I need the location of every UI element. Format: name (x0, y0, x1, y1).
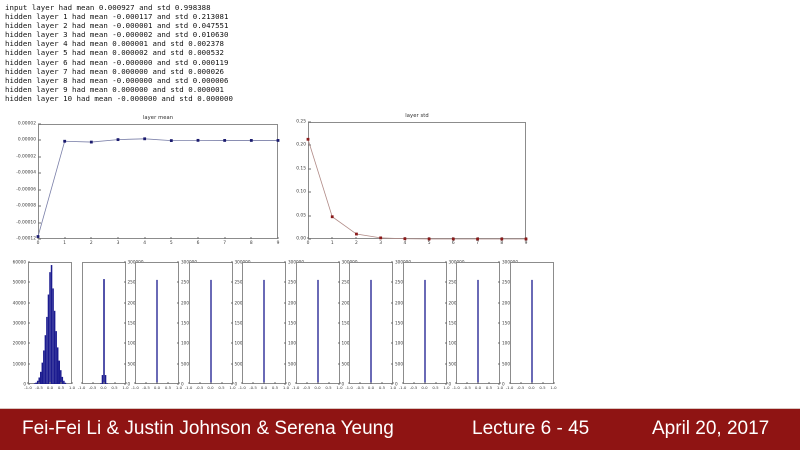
histogram-x-tick-label: -1.0 (131, 385, 139, 390)
console-output-block: input layer had mean 0.000927 and std 0.… (5, 3, 305, 103)
histogram-y-tick-mark (177, 363, 179, 364)
histogram-y-tick-label: 50000 (13, 280, 26, 285)
histogram-x-tick-mark (125, 382, 126, 384)
histogram-x-tick-label: 0.5 (432, 385, 438, 390)
histogram-x-tick-label: -0.5 (517, 385, 525, 390)
histogram-x-tick-label: -1.0 (24, 385, 32, 390)
histogram-x-tick-label: -0.5 (356, 385, 364, 390)
histogram-bar (58, 361, 60, 384)
histogram-strip: 0100002000030000400005000060000-1.0-0.50… (0, 262, 540, 397)
histogram-y-tick-mark (284, 262, 286, 263)
histogram-plot (189, 262, 233, 384)
histogram-x-tick-mark (242, 382, 243, 384)
histogram-x-tick-mark (456, 382, 457, 384)
histogram-x-tick-label: 0.0 (368, 385, 374, 390)
histogram-x-tick-mark (402, 382, 403, 384)
histogram-y-tick-mark (391, 262, 393, 263)
histogram-y-tick-mark (231, 323, 233, 324)
x-tick-label: 8 (500, 241, 503, 246)
y-tick-label: 0.05 (296, 213, 306, 218)
histogram-y-tick-mark (445, 282, 447, 283)
y-tick-label: 0.00 (296, 237, 306, 242)
histogram-y-tick-mark (231, 282, 233, 283)
x-tick-label: 6 (197, 241, 200, 246)
histogram-bar (65, 383, 67, 384)
histogram-x-tick-label: -1.0 (452, 385, 460, 390)
series-marker (37, 235, 40, 238)
chart-layer-mean: layer mean 0.000020.00000-0.00002-0.0000… (38, 124, 278, 239)
histogram-y-tick-mark (231, 343, 233, 344)
histogram-x-tick-label: 0.5 (111, 385, 117, 390)
histogram-x-tick-label: 0.5 (325, 385, 331, 390)
series-line (38, 139, 278, 237)
footer-lecture-number: Lecture 6 - 45 (472, 418, 589, 440)
console-line: hidden layer 8 had mean -0.000000 and st… (5, 76, 305, 85)
series-marker (331, 215, 334, 218)
series-marker (277, 139, 280, 142)
histogram-x-tick-mark (210, 382, 211, 384)
histogram-y-tick-mark (124, 282, 126, 283)
histogram-y-tick-label: 10000 (13, 361, 26, 366)
histogram-x-tick-label: 1.0 (497, 385, 503, 390)
chart-layer-std-plot (308, 122, 526, 239)
histogram-x-tick-mark (232, 382, 233, 384)
histogram-subplot: 050000100000150000200000250000300000-1.0… (456, 262, 500, 384)
histogram-x-tick-mark (382, 382, 383, 384)
histogram-x-tick-label: 0.0 (100, 385, 106, 390)
histogram-plot (82, 262, 126, 384)
histogram-x-tick-mark (478, 382, 479, 384)
histogram-x-tick-label: 0.5 (486, 385, 492, 390)
series-marker (223, 139, 226, 142)
y-tick-label: 0.00000 (18, 138, 36, 143)
histogram-y-tick-mark (177, 343, 179, 344)
console-line: hidden layer 3 had mean -0.000002 and st… (5, 30, 305, 39)
histogram-x-tick-mark (509, 382, 510, 384)
histogram-x-tick-mark (264, 382, 265, 384)
series-marker (63, 140, 66, 143)
console-line: hidden layer 7 had mean 0.000000 and std… (5, 67, 305, 76)
histogram-x-tick-mark (349, 382, 350, 384)
histogram-y-tick-mark (28, 343, 30, 344)
footer-date: April 20, 2017 (652, 418, 769, 440)
histogram-x-tick-label: 0.0 (47, 385, 53, 390)
histogram-y-tick-mark (124, 343, 126, 344)
histogram-x-tick-label: -1.0 (292, 385, 300, 390)
histogram-x-tick-label: -1.0 (506, 385, 514, 390)
histogram-bar (370, 280, 371, 384)
histogram-y-tick-mark (445, 363, 447, 364)
histogram-bar (54, 311, 56, 384)
histogram-subplot: 050000100000150000200000250000300000-1.0… (403, 262, 447, 384)
footer-top-hairline (0, 408, 800, 409)
histogram-x-tick-mark (179, 382, 180, 384)
histogram-y-tick-mark (498, 323, 500, 324)
histogram-x-tick-mark (467, 382, 468, 384)
histogram-bar (49, 272, 51, 384)
histogram-y-tick-mark (391, 363, 393, 364)
histogram-subplot: 0100002000030000400005000060000-1.0-0.50… (28, 262, 72, 384)
histogram-x-tick-label: -1.0 (345, 385, 353, 390)
series-marker (476, 238, 479, 241)
y-tick-label: 0.15 (296, 166, 306, 171)
histogram-x-tick-mark (61, 382, 62, 384)
histogram-x-tick-label: 1.0 (390, 385, 396, 390)
histogram-x-tick-label: 1.0 (122, 385, 128, 390)
histogram-x-tick-mark (114, 382, 115, 384)
chart-layer-mean-title: layer mean (38, 115, 278, 121)
histogram-y-tick-mark (391, 282, 393, 283)
histogram-y-tick-mark (177, 302, 179, 303)
series-marker (452, 238, 455, 241)
histogram-y-tick-label: 40000 (13, 300, 26, 305)
histogram-bar (477, 280, 478, 384)
histogram-x-tick-mark (92, 382, 93, 384)
histogram-x-tick-mark (489, 382, 490, 384)
histogram-x-tick-mark (424, 382, 425, 384)
histogram-plot (296, 262, 340, 384)
histogram-y-tick-mark (445, 343, 447, 344)
histogram-x-tick-mark (253, 382, 254, 384)
histogram-x-tick-mark (328, 382, 329, 384)
histogram-x-tick-label: 1.0 (69, 385, 75, 390)
histogram-x-tick-mark (542, 382, 543, 384)
footer-banner: Fei-Fei Li & Justin Johnson & Serena Yeu… (0, 408, 800, 450)
histogram-bar (100, 383, 102, 384)
histogram-x-tick-mark (306, 382, 307, 384)
histogram-plot (510, 262, 554, 384)
histogram-bar (55, 331, 57, 384)
histogram-bar (424, 280, 425, 384)
series-line (308, 139, 526, 239)
y-tick-label: -0.00002 (16, 154, 36, 159)
x-tick-label: 8 (250, 241, 253, 246)
histogram-subplot: 050000100000150000200000250000300000-1.0… (242, 262, 286, 384)
x-tick-label: 5 (170, 241, 173, 246)
histogram-x-tick-label: 0.0 (207, 385, 213, 390)
y-tick-label: -0.00010 (16, 220, 36, 225)
series-marker (428, 238, 431, 241)
histogram-y-tick-mark (231, 262, 233, 263)
histogram-x-tick-mark (317, 382, 318, 384)
histogram-bar (52, 288, 54, 384)
console-line: input layer had mean 0.000927 and std 0.… (5, 3, 305, 12)
histogram-x-tick-label: -0.5 (463, 385, 471, 390)
histogram-x-tick-label: 0.5 (58, 385, 64, 390)
histogram-y-tick-mark (124, 262, 126, 263)
x-tick-label: 0 (307, 241, 310, 246)
x-tick-label: 7 (476, 241, 479, 246)
histogram-x-tick-mark (103, 382, 104, 384)
console-line: hidden layer 9 had mean 0.000000 and std… (5, 85, 305, 94)
histogram-y-tick-mark (284, 302, 286, 303)
histogram-y-tick-mark (498, 343, 500, 344)
histogram-bar (156, 280, 157, 384)
histogram-y-tick-mark (445, 262, 447, 263)
histogram-plot (456, 262, 500, 384)
histogram-plot (349, 262, 393, 384)
histogram-bar (35, 383, 37, 384)
series-marker (525, 238, 528, 241)
histogram-y-tick-mark (177, 282, 179, 283)
histogram-x-tick-label: -0.5 (303, 385, 311, 390)
histogram-bar (531, 280, 532, 384)
console-line: hidden layer 2 had mean -0.000001 and st… (5, 21, 305, 30)
histogram-x-tick-label: 0.0 (528, 385, 534, 390)
histogram-x-tick-label: -1.0 (185, 385, 193, 390)
y-tick-label: -0.00012 (16, 237, 36, 242)
series-marker (500, 238, 503, 241)
histogram-y-tick-mark (284, 282, 286, 283)
histogram-x-tick-label: 1.0 (550, 385, 556, 390)
y-tick-label: 0.25 (296, 120, 306, 125)
y-tick-label: 0.10 (296, 190, 306, 195)
histogram-y-tick-mark (338, 262, 340, 263)
histogram-subplot: 050000100000150000200000250000300000-1.0… (296, 262, 340, 384)
histogram-x-tick-label: 0.0 (314, 385, 320, 390)
histogram-y-tick-mark (284, 323, 286, 324)
histogram-bar (40, 372, 42, 384)
histogram-x-tick-mark (520, 382, 521, 384)
histogram-y-tick-label: 30000 (13, 321, 26, 326)
histogram-y-tick-mark (28, 302, 30, 303)
histogram-x-tick-label: 1.0 (176, 385, 182, 390)
histogram-x-tick-mark (81, 382, 82, 384)
histogram-bar (263, 280, 264, 384)
histogram-x-tick-label: -1.0 (78, 385, 86, 390)
histogram-y-tick-mark (177, 323, 179, 324)
series-marker (250, 139, 253, 142)
histogram-x-tick-mark (157, 382, 158, 384)
histogram-bar (317, 280, 318, 384)
console-line: hidden layer 10 had mean -0.000000 and s… (5, 94, 305, 103)
series-marker (117, 138, 120, 141)
histogram-x-tick-mark (50, 382, 51, 384)
histogram-y-tick-label: 60000 (13, 260, 26, 265)
histogram-x-tick-mark (371, 382, 372, 384)
histogram-x-tick-label: 1.0 (443, 385, 449, 390)
x-tick-label: 1 (63, 241, 66, 246)
histogram-bar (57, 347, 59, 384)
series-marker (143, 137, 146, 140)
series-marker (355, 233, 358, 236)
console-line: hidden layer 4 had mean 0.000001 and std… (5, 39, 305, 48)
histogram-x-tick-label: 0.5 (539, 385, 545, 390)
histogram-bar (210, 280, 211, 384)
x-tick-label: 2 (355, 241, 358, 246)
console-line: hidden layer 5 had mean 0.000002 and std… (5, 48, 305, 57)
chart-layer-mean-plot (38, 124, 278, 239)
histogram-bar (43, 350, 45, 384)
histogram-y-tick-mark (231, 302, 233, 303)
histogram-x-tick-label: 0.5 (379, 385, 385, 390)
x-tick-label: 2 (90, 241, 93, 246)
histogram-y-tick-mark (177, 262, 179, 263)
histogram-bar (45, 335, 47, 384)
histogram-bar (106, 383, 108, 384)
histogram-x-tick-mark (435, 382, 436, 384)
y-tick-label: 0.00002 (18, 122, 36, 127)
histogram-bar (42, 363, 44, 384)
histogram-y-tick-mark (124, 323, 126, 324)
histogram-x-tick-label: 0.5 (272, 385, 278, 390)
series-marker (379, 236, 382, 239)
histogram-x-tick-mark (28, 382, 29, 384)
histogram-bar (46, 317, 48, 384)
histogram-y-tick-mark (498, 302, 500, 303)
histogram-x-tick-mark (360, 382, 361, 384)
histogram-subplot: -1.0-0.50.00.51.0 (510, 262, 554, 384)
histogram-x-tick-mark (199, 382, 200, 384)
histogram-bar (63, 381, 65, 384)
histogram-bar (51, 265, 53, 384)
footer-authors: Fei-Fei Li & Justin Johnson & Serena Yeu… (22, 418, 394, 440)
histogram-x-tick-label: 0.0 (261, 385, 267, 390)
console-line: hidden layer 6 had mean -0.000000 and st… (5, 58, 305, 67)
histogram-bar (48, 295, 50, 384)
histogram-y-tick-mark (445, 302, 447, 303)
histogram-y-tick-mark (28, 262, 30, 263)
x-tick-label: 3 (117, 241, 120, 246)
histogram-y-tick-mark (284, 363, 286, 364)
histogram-subplot: 050000100000150000200000250000300000-1.0… (349, 262, 393, 384)
histogram-y-tick-mark (338, 323, 340, 324)
y-tick-label: 0.20 (296, 143, 306, 148)
histogram-x-tick-label: 1.0 (283, 385, 289, 390)
histogram-y-tick-mark (338, 282, 340, 283)
series-marker (90, 141, 93, 144)
histogram-x-tick-label: -1.0 (399, 385, 407, 390)
histogram-x-tick-mark (39, 382, 40, 384)
x-tick-label: 7 (223, 241, 226, 246)
series-marker (307, 138, 310, 141)
histogram-x-tick-mark (413, 382, 414, 384)
histogram-x-tick-mark (221, 382, 222, 384)
histogram-plot (135, 262, 179, 384)
x-tick-label: 3 (379, 241, 382, 246)
x-tick-label: 1 (331, 241, 334, 246)
histogram-x-tick-mark (446, 382, 447, 384)
histogram-bar (103, 279, 105, 384)
histogram-x-tick-mark (393, 382, 394, 384)
histogram-x-tick-mark (188, 382, 189, 384)
histogram-x-tick-mark (553, 382, 554, 384)
histogram-subplot: 050000100000150000200000250000300000-1.0… (135, 262, 179, 384)
x-tick-label: 6 (452, 241, 455, 246)
histogram-y-tick-mark (28, 363, 30, 364)
histogram-x-tick-mark (531, 382, 532, 384)
histogram-y-tick-mark (124, 363, 126, 364)
x-tick-label: 9 (525, 241, 528, 246)
histogram-y-tick-mark (498, 363, 500, 364)
series-marker (197, 139, 200, 142)
histogram-bar (104, 375, 106, 384)
histogram-y-tick-mark (284, 343, 286, 344)
histogram-x-tick-label: 0.5 (165, 385, 171, 390)
histogram-subplot: 050000100000150000200000250000300000-1.0… (82, 262, 126, 384)
y-tick-label: -0.00006 (16, 187, 36, 192)
histogram-x-tick-label: -0.5 (35, 385, 43, 390)
y-tick-label: -0.00008 (16, 204, 36, 209)
histogram-y-tick-mark (445, 323, 447, 324)
histogram-plot (242, 262, 286, 384)
histogram-x-tick-label: 0.0 (154, 385, 160, 390)
histogram-x-tick-label: -0.5 (410, 385, 418, 390)
chart-layer-std-title: layer std (308, 113, 526, 119)
histogram-x-tick-label: -1.0 (238, 385, 246, 390)
histogram-y-tick-mark (28, 323, 30, 324)
histogram-x-tick-label: 0.0 (421, 385, 427, 390)
histogram-x-tick-mark (295, 382, 296, 384)
histogram-x-tick-mark (146, 382, 147, 384)
histogram-x-tick-mark (135, 382, 136, 384)
y-tick-label: -0.00004 (16, 171, 36, 176)
histogram-x-tick-mark (286, 382, 287, 384)
histogram-x-tick-mark (500, 382, 501, 384)
histogram-x-tick-mark (275, 382, 276, 384)
histogram-x-tick-mark (72, 382, 73, 384)
histogram-x-tick-label: -0.5 (196, 385, 204, 390)
histogram-y-tick-mark (391, 343, 393, 344)
histogram-y-tick-mark (391, 302, 393, 303)
x-tick-label: 0 (37, 241, 40, 246)
chart-layer-std: layer std 0.250.200.150.100.050.00012345… (308, 122, 526, 239)
histogram-x-tick-mark (339, 382, 340, 384)
slide-canvas: input layer had mean 0.000927 and std 0.… (0, 0, 800, 450)
histogram-y-tick-mark (28, 282, 30, 283)
histogram-y-tick-mark (338, 363, 340, 364)
x-tick-label: 9 (277, 241, 280, 246)
histogram-y-tick-label: 20000 (13, 341, 26, 346)
histogram-y-tick-mark (338, 302, 340, 303)
histogram-bar (62, 377, 64, 384)
histogram-y-tick-mark (124, 302, 126, 303)
histogram-x-tick-mark (168, 382, 169, 384)
histogram-plot (403, 262, 447, 384)
histogram-y-tick-mark (498, 282, 500, 283)
histogram-x-tick-label: -0.5 (89, 385, 97, 390)
histogram-x-tick-label: -0.5 (249, 385, 257, 390)
histogram-y-tick-mark (231, 363, 233, 364)
histogram-y-tick-mark (391, 323, 393, 324)
x-tick-label: 5 (428, 241, 431, 246)
histogram-bar (34, 383, 36, 384)
histogram-y-tick-mark (338, 343, 340, 344)
x-tick-label: 4 (403, 241, 406, 246)
histogram-y-tick-mark (498, 262, 500, 263)
histogram-x-tick-label: -0.5 (142, 385, 150, 390)
histogram-x-tick-label: 1.0 (229, 385, 235, 390)
histogram-subplot: 050000100000150000200000250000300000-1.0… (189, 262, 233, 384)
histogram-plot (28, 262, 72, 384)
histogram-x-tick-label: 1.0 (336, 385, 342, 390)
series-marker (403, 237, 406, 240)
console-line: hidden layer 1 had mean -0.000117 and st… (5, 12, 305, 21)
histogram-x-tick-label: 0.5 (218, 385, 224, 390)
series-marker (170, 139, 173, 142)
x-tick-label: 4 (143, 241, 146, 246)
histogram-x-tick-label: 0.0 (475, 385, 481, 390)
